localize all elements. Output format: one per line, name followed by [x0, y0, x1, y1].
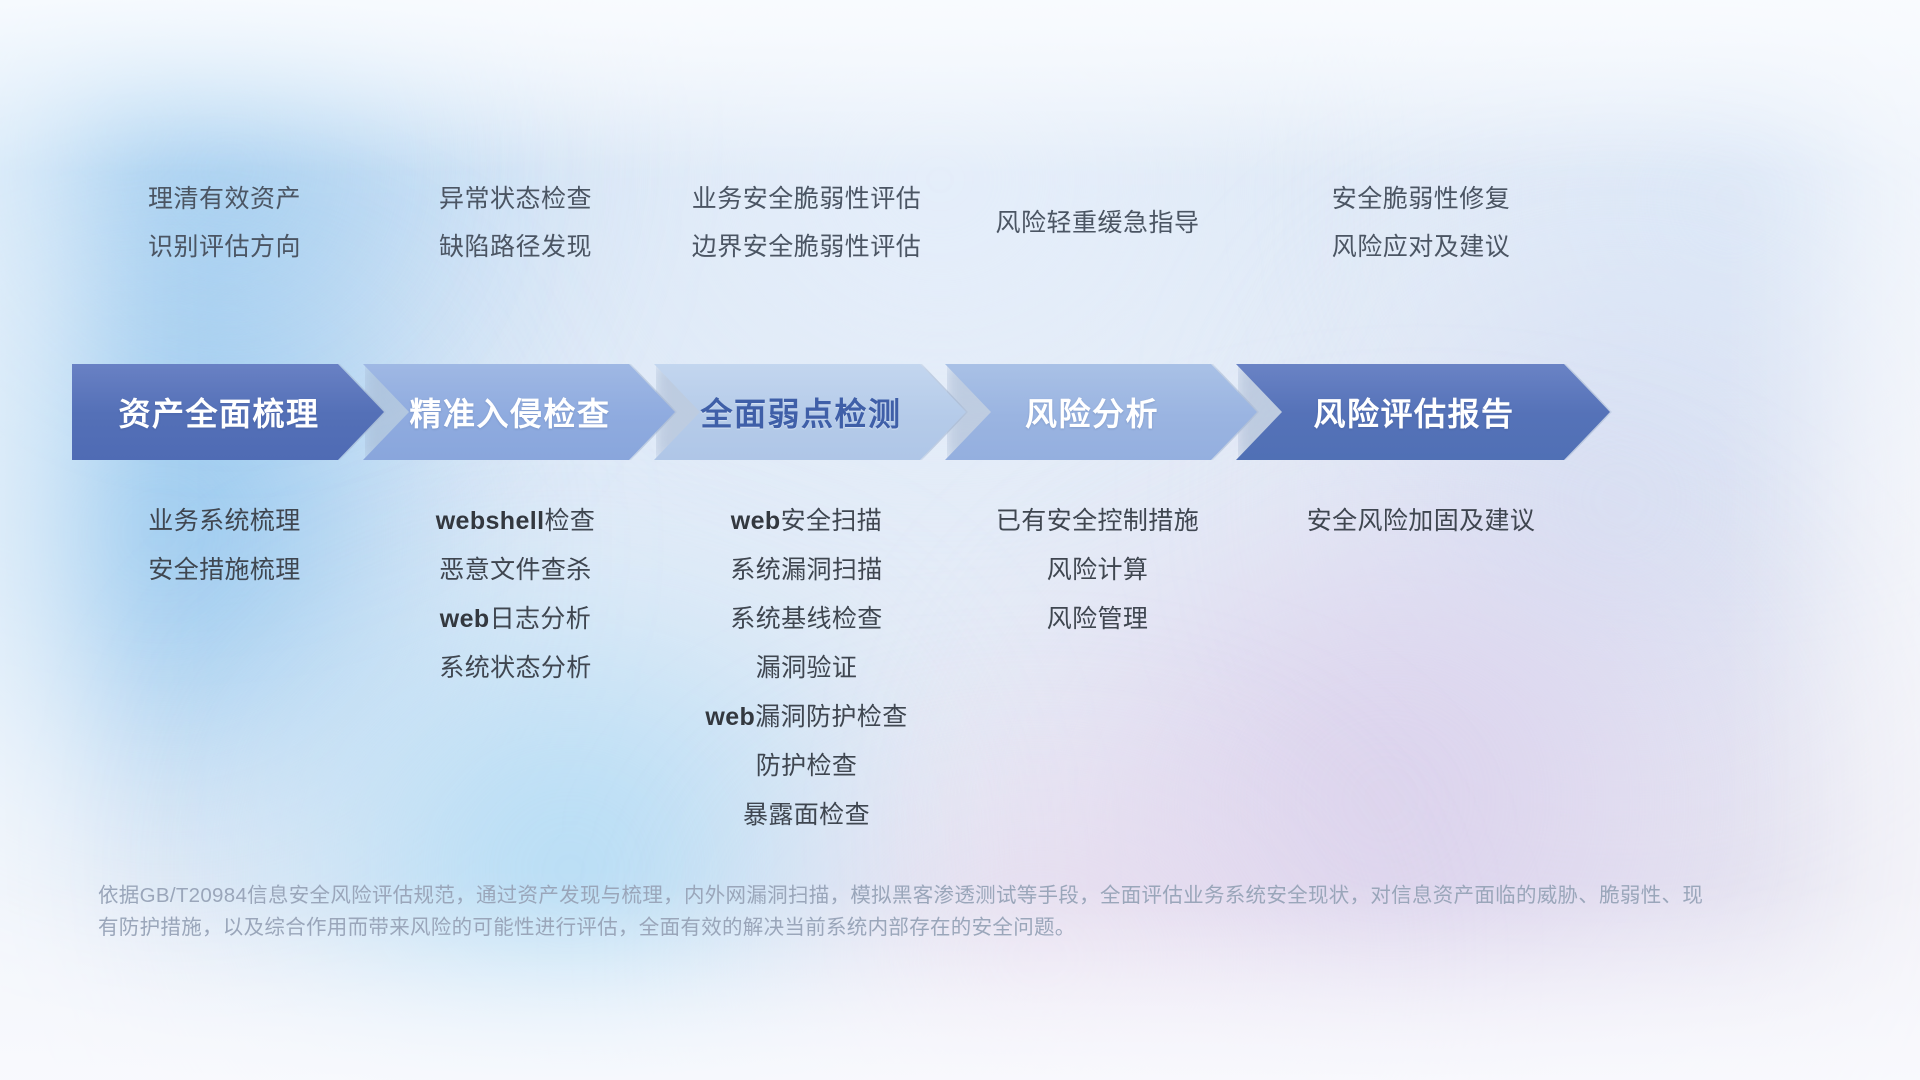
list-item-suffix: 漏洞防护检查 [755, 703, 907, 731]
list-item: 业务系统梳理 [72, 497, 377, 546]
list-item: 风险计算 [945, 546, 1250, 595]
stage-chevron-intrusion-check[interactable]: 精准入侵检查 [363, 364, 675, 460]
list-item-suffix: 日志分析 [490, 605, 592, 633]
list-item-bold-prefix: web [705, 703, 755, 731]
list-item: 系统基线检查 [654, 595, 959, 644]
stage-chevron-weakness-detection[interactable]: 全面弱点检测 [654, 364, 966, 460]
stage-chevron-risk-analysis[interactable]: 风险分析 [945, 364, 1257, 460]
list-item-bold-prefix: web [731, 507, 781, 535]
top-captions-risk-analysis: 风险轻重缓急指导 [945, 199, 1250, 247]
process-diagram: 理清有效资产 识别评估方向 异常状态检查 缺陷路径发现 业务安全脆弱性评估 边界… [0, 0, 1920, 1080]
footer-paragraph: 依据GB/T20984信息安全风险评估规范，通过资产发现与梳理，内外网漏洞扫描，… [98, 880, 1718, 944]
list-item: 系统状态分析 [363, 644, 668, 693]
items-risk-analysis: 已有安全控制措施 风险计算 风险管理 [945, 497, 1250, 644]
stage-chevron-asset-inventory[interactable]: 资产全面梳理 [72, 364, 384, 460]
list-item: web安全扫描 [654, 497, 959, 546]
items-weakness-detection: web安全扫描 系统漏洞扫描 系统基线检查 漏洞验证 web漏洞防护检查 防护检… [654, 497, 959, 840]
caption-line: 业务安全脆弱性评估 [624, 175, 989, 223]
items-assessment-report: 安全风险加固及建议 [1236, 497, 1606, 546]
caption-line: 缺陷路径发现 [363, 223, 668, 271]
top-captions-asset-inventory: 理清有效资产 识别评估方向 [72, 175, 377, 271]
caption-line: 安全脆弱性修复 [1236, 175, 1606, 223]
stage-label: 风险评估报告 [1236, 389, 1610, 435]
list-item: 系统漏洞扫描 [654, 546, 959, 595]
stage-label: 资产全面梳理 [72, 389, 384, 435]
list-item: 安全措施梳理 [72, 546, 377, 595]
caption-line: 异常状态检查 [363, 175, 668, 223]
list-item: 风险管理 [945, 595, 1250, 644]
list-item: 安全风险加固及建议 [1236, 497, 1606, 546]
list-item-suffix: 安全扫描 [781, 507, 883, 535]
top-captions-intrusion-check: 异常状态检查 缺陷路径发现 [363, 175, 668, 271]
list-item: 恶意文件查杀 [363, 546, 668, 595]
list-item: 防护检查 [654, 742, 959, 791]
top-captions-assessment-report: 安全脆弱性修复 风险应对及建议 [1236, 175, 1606, 271]
list-item: web漏洞防护检查 [654, 693, 959, 742]
items-intrusion-check: webshell检查 恶意文件查杀 web日志分析 系统状态分析 [363, 497, 668, 693]
caption-line: 理清有效资产 [72, 175, 377, 223]
footer-description: 依据GB/T20984信息安全风险评估规范，通过资产发现与梳理，内外网漏洞扫描，… [98, 880, 1718, 944]
caption-line: 风险轻重缓急指导 [945, 199, 1250, 247]
process-stage-band: 资产全面梳理 精准入侵检查 全面弱点检测 风险分析 风险评估报告 [0, 364, 1920, 460]
items-asset-inventory: 业务系统梳理 安全措施梳理 [72, 497, 377, 595]
stage-label: 全面弱点检测 [654, 389, 966, 435]
top-captions-weakness-detection: 业务安全脆弱性评估 边界安全脆弱性评估 [624, 175, 989, 271]
list-item: 暴露面检查 [654, 791, 959, 840]
list-item-suffix: 检查 [544, 507, 595, 535]
caption-line: 边界安全脆弱性评估 [624, 223, 989, 271]
list-item: webshell检查 [363, 497, 668, 546]
list-item-bold-prefix: web [440, 605, 490, 633]
top-captions-row: 理清有效资产 识别评估方向 异常状态检查 缺陷路径发现 业务安全脆弱性评估 边界… [0, 175, 1920, 290]
list-item: 已有安全控制措施 [945, 497, 1250, 546]
caption-line: 识别评估方向 [72, 223, 377, 271]
list-item-bold-prefix: webshell [436, 507, 545, 535]
list-item: web日志分析 [363, 595, 668, 644]
list-item: 漏洞验证 [654, 644, 959, 693]
stage-chevron-assessment-report[interactable]: 风险评估报告 [1236, 364, 1610, 460]
stage-label: 风险分析 [945, 389, 1257, 435]
stage-label: 精准入侵检查 [363, 389, 675, 435]
caption-line: 风险应对及建议 [1236, 223, 1606, 271]
